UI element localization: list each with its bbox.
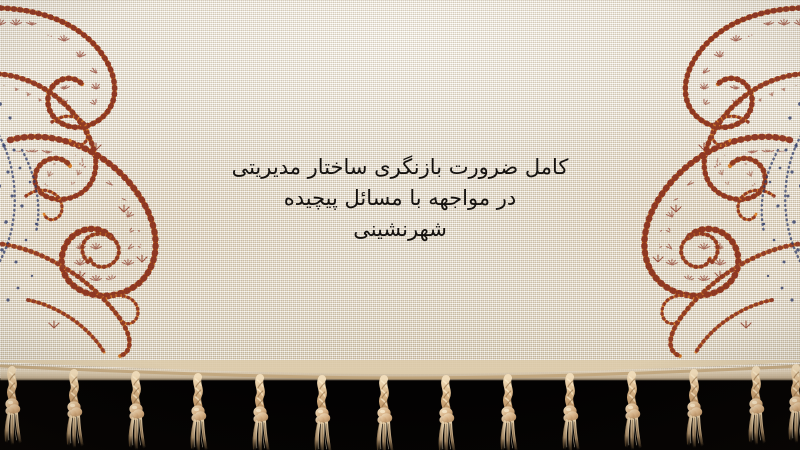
slide-title: کامل ضرورت بازنگری ساختار مدیریتی در موا… [150,152,650,245]
title-line-2: در مواجهه با مسائل پیچیده [150,183,650,214]
textile-hem-edge [0,366,800,380]
title-line-3: شهرنشینی [150,214,650,245]
slide-canvas: کامل ضرورت بازنگری ساختار مدیریتی در موا… [0,0,800,450]
title-line-1: کامل ضرورت بازنگری ساختار مدیریتی [150,152,650,183]
